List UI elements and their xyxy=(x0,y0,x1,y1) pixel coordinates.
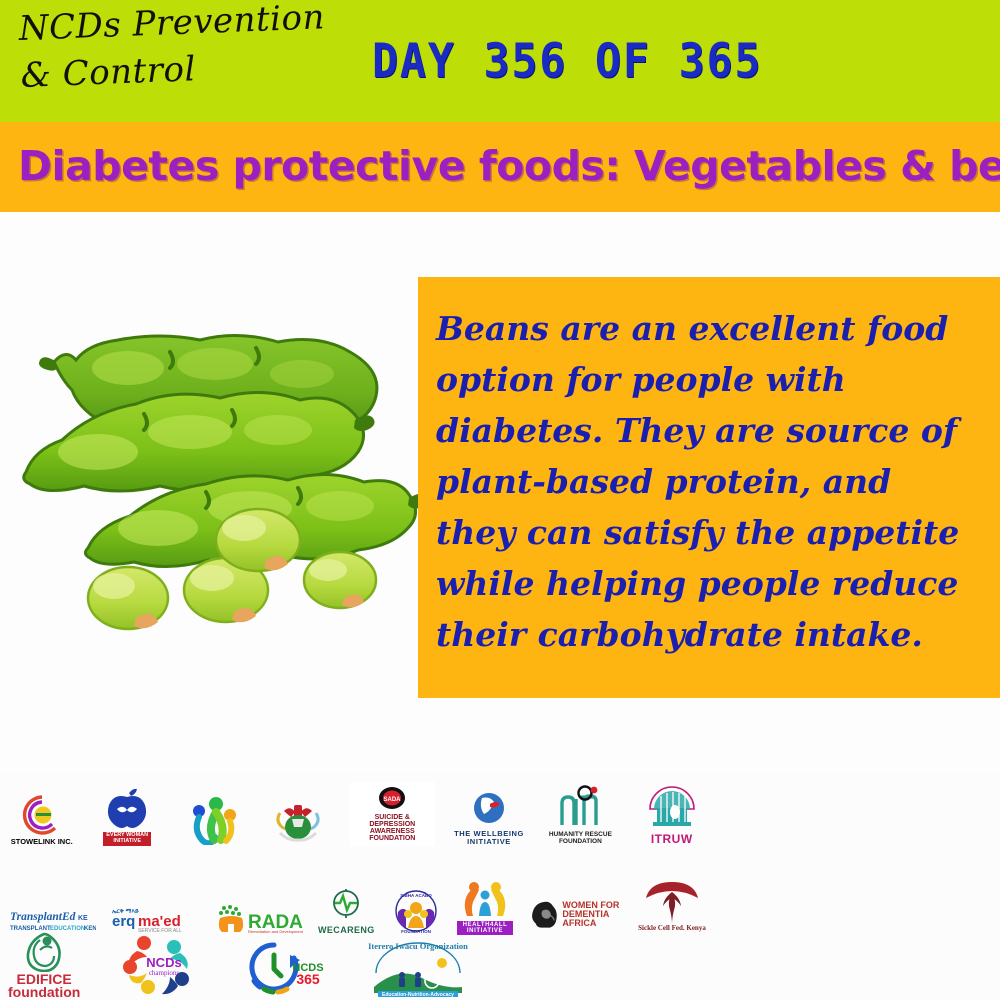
health4all-figures-icon xyxy=(457,880,513,920)
wellbeing-globe-icon xyxy=(469,789,509,829)
svg-text:FOUNDATION: FOUNDATION xyxy=(401,929,431,934)
partner-logo-health4all: HEALTH4ALL INITIATIVE xyxy=(457,880,514,935)
dementia-head-icon xyxy=(527,893,560,935)
wecareng-pulse-icon xyxy=(321,889,371,925)
loose-bean-3 xyxy=(216,509,300,571)
partner-logo-iwacu: Iterero Iwacu Organization Education-Nut… xyxy=(366,937,470,1000)
svg-text:365: 365 xyxy=(297,971,321,987)
partner-logo-stowelink: STOWELINK INC. xyxy=(8,793,75,846)
partner-logo-sickle-cell-kenya: Sickle Cell Fed. Kenya Sickle Cell Feder… xyxy=(636,876,708,935)
partner-logo-ncds-champions: NCDs champions NCDs champions xyxy=(116,933,202,1000)
partner-caption: THE WELLBEING INITIATIVE xyxy=(454,830,524,845)
partner-logo-itruw: ITRUW xyxy=(635,784,708,845)
brand-title: NCDs Prevention & Control xyxy=(18,0,361,100)
svg-text:Iterero Iwacu Organization: Iterero Iwacu Organization xyxy=(368,941,468,951)
svg-text:TransplantEd: TransplantEd xyxy=(10,911,76,923)
partner-logo-wellbeing: THE WELLBEING INITIATIVE xyxy=(453,789,526,845)
svg-text:Education-Nutrition-Advocacy: Education-Nutrition-Advocacy xyxy=(382,992,454,998)
page-title: Diabetes protective foods: Vegetables & … xyxy=(18,138,1000,194)
partner-caption: STOWELINK INC. xyxy=(11,838,73,846)
partner-caption: WOMEN FOR DEMENTIA AFRICA xyxy=(562,901,622,929)
partner-logos-strip: STOWELINK INC. EVERY WOMAN INITIATIVE xyxy=(0,772,1000,1000)
sadaf-globe-icon: SADA xyxy=(375,785,409,813)
stowelink-circle-icon xyxy=(19,793,65,837)
partner-logo-row-3: EDIFICE foundation NCDs xyxy=(8,930,388,1000)
itruw-dome-icon xyxy=(645,784,699,832)
partner-caption: SUICIDE & DEPRESSION AWARENESS FOUNDATIO… xyxy=(352,814,433,843)
partner-logo-sibha-acabo: SIBHA ACABO FOUNDATION SIBHA ACABO FOUND… xyxy=(389,890,443,935)
rainbow-figures-icon xyxy=(187,795,239,845)
partner-logo-row-1: STOWELINK INC. EVERY WOMAN INITIATIVE xyxy=(8,782,708,846)
poster-root: NCDs Prevention & Control DAY 356 OF 365… xyxy=(0,0,1000,1000)
partner-caption: ITRUW xyxy=(651,833,693,845)
soybean-pods-and-beans-illustration xyxy=(10,300,430,640)
partner-logo-every-woman: EVERY WOMAN INITIATIVE xyxy=(93,787,160,845)
blue-apple-icon xyxy=(103,787,151,831)
svg-text:SADA: SADA xyxy=(384,797,402,803)
sickle-cell-ribbon-icon: Sickle Cell Fed. Kenya xyxy=(636,876,708,934)
day-counter: DAY 356 OF 365 xyxy=(372,34,762,89)
partner-logo-wecareng: WECARENG xyxy=(318,889,375,935)
partner-logo-ncds365-small: NCDS 365 NCDS 365 xyxy=(238,937,330,1000)
edifice-leaf-icon xyxy=(20,930,68,972)
svg-text:champions: champions xyxy=(149,969,180,977)
partner-logo-edifice: EDIFICE foundation xyxy=(8,930,80,1000)
info-panel-text: Beans are an excellent food option for p… xyxy=(436,303,982,660)
partner-logo-rainbow-figures xyxy=(179,795,246,846)
partner-logo-strength-body xyxy=(264,797,331,846)
partner-caption: EVERY WOMAN INITIATIVE xyxy=(103,832,151,845)
loose-bean-1 xyxy=(88,567,168,629)
partner-caption: HEALTH4ALL INITIATIVE xyxy=(457,921,514,935)
partner-caption: EDIFICE foundation xyxy=(8,973,80,1000)
info-panel: Beans are an excellent food option for p… xyxy=(418,277,1000,698)
hands-family-icon: SIBHA ACABO FOUNDATION xyxy=(389,890,443,934)
svg-text:NCDs: NCDs xyxy=(147,955,182,970)
svg-text:SIBHA ACABO: SIBHA ACABO xyxy=(400,893,432,898)
ncds-champions-ring-icon: NCDs champions xyxy=(116,933,202,999)
svg-text:erq: erq xyxy=(112,913,135,930)
loose-bean-4 xyxy=(304,552,376,608)
ncds365-clock-small-icon: NCDS 365 xyxy=(238,937,330,999)
partner-logo-row-2: TransplantEd KE TRANSPLANT EDUCATION KEN… xyxy=(8,876,708,935)
iwacu-hill-icon: Iterero Iwacu Organization Education-Nut… xyxy=(366,937,470,999)
partner-logo-women-dementia: WOMEN FOR DEMENTIA AFRICA xyxy=(527,893,622,935)
partner-logo-humanity-rescue: HUMANITY RESCUE FOUNDATION xyxy=(543,785,617,845)
hrf-monogram-icon xyxy=(554,785,606,831)
partner-logo-suicide-depression: SADA SUICIDE & DEPRESSION AWARENESS FOUN… xyxy=(350,782,435,846)
svg-text:Sickle Cell Fed. Kenya: Sickle Cell Fed. Kenya xyxy=(638,924,706,932)
svg-text:KE: KE xyxy=(78,915,88,922)
partner-caption: HUMANITY RESCUE FOUNDATION xyxy=(549,832,612,845)
strength-body-icon xyxy=(270,797,326,845)
